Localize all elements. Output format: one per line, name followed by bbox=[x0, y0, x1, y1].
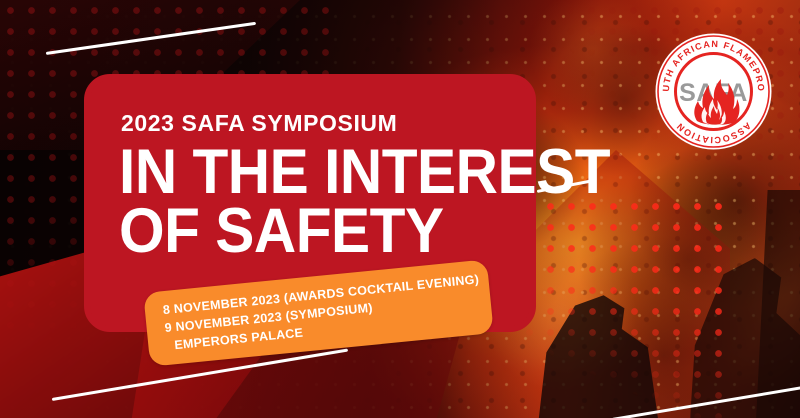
safa-logo: SOUTH AFRICAN FLAMEPROOF ASSOCIATION SAF… bbox=[651, 29, 776, 154]
headline-line-1: IN THE INTEREST bbox=[119, 143, 610, 202]
event-headline: IN THE INTEREST OF SAFETY bbox=[119, 143, 610, 260]
headline-line-2: OF SAFETY bbox=[119, 202, 610, 261]
event-poster: 2023 SAFA SYMPOSIUM IN THE INTEREST OF S… bbox=[0, 0, 800, 418]
event-kicker: 2023 SAFA SYMPOSIUM bbox=[121, 112, 397, 135]
